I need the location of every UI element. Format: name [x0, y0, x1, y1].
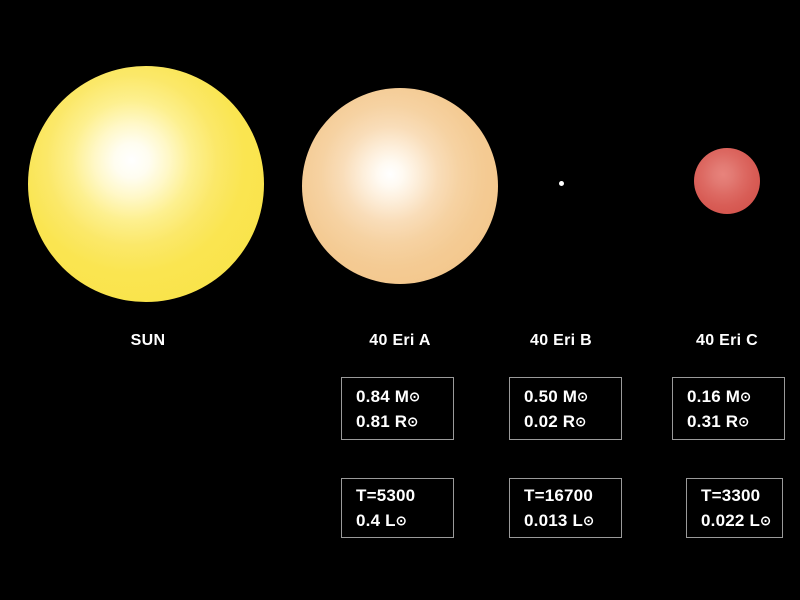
- radius-number-40-eri-c: 0.31 R: [687, 412, 738, 431]
- star-name-40-eri-b: 40 Eri B: [491, 332, 631, 350]
- star-disk-sun: [28, 66, 264, 302]
- mass-radius-box-40-eri-c: 0.16 M⊙ 0.31 R⊙: [672, 377, 785, 440]
- radius-number-40-eri-a: 0.81 R: [356, 412, 407, 431]
- mass-radius-box-40-eri-b: 0.50 M⊙ 0.02 R⊙: [509, 377, 622, 440]
- temperature-value-40-eri-c: T=3300: [701, 483, 782, 508]
- radius-value-40-eri-b: 0.02 R⊙: [524, 409, 621, 434]
- star-name-40-eri-c: 40 Eri C: [657, 332, 797, 350]
- mass-number-40-eri-b: 0.50 M: [524, 387, 577, 406]
- star-disk-40-eri-c: [694, 148, 760, 214]
- sun-symbol-icon: ⊙: [575, 414, 586, 429]
- star-disk-40-eri-a: [302, 88, 498, 284]
- sun-symbol-icon: ⊙: [396, 513, 407, 528]
- sun-symbol-icon: ⊙: [583, 513, 594, 528]
- luminosity-number-40-eri-b: 0.013 L: [524, 511, 583, 530]
- luminosity-value-40-eri-a: 0.4 L⊙: [356, 508, 453, 533]
- mass-number-40-eri-c: 0.16 M: [687, 387, 740, 406]
- temperature-value-40-eri-a: T=5300: [356, 483, 453, 508]
- sun-symbol-icon: ⊙: [760, 513, 771, 528]
- star-comparison-figure: SUN 40 Eri A 40 Eri B 40 Eri C 0.84 M⊙ 0…: [0, 0, 800, 600]
- mass-number-40-eri-a: 0.84 M: [356, 387, 409, 406]
- luminosity-value-40-eri-c: 0.022 L⊙: [701, 508, 782, 533]
- temperature-luminosity-box-40-eri-a: T=5300 0.4 L⊙: [341, 478, 454, 538]
- sun-symbol-icon: ⊙: [409, 389, 420, 404]
- luminosity-value-40-eri-b: 0.013 L⊙: [524, 508, 621, 533]
- mass-value-40-eri-b: 0.50 M⊙: [524, 384, 621, 409]
- mass-value-40-eri-a: 0.84 M⊙: [356, 384, 453, 409]
- sun-symbol-icon: ⊙: [407, 414, 418, 429]
- temperature-value-40-eri-b: T=16700: [524, 483, 621, 508]
- star-disk-40-eri-b: [559, 181, 564, 186]
- temperature-luminosity-box-40-eri-b: T=16700 0.013 L⊙: [509, 478, 622, 538]
- radius-number-40-eri-b: 0.02 R: [524, 412, 575, 431]
- star-name-sun: SUN: [78, 332, 218, 350]
- sun-symbol-icon: ⊙: [740, 389, 751, 404]
- star-name-40-eri-a: 40 Eri A: [330, 332, 470, 350]
- sun-symbol-icon: ⊙: [577, 389, 588, 404]
- temperature-luminosity-box-40-eri-c: T=3300 0.022 L⊙: [686, 478, 783, 538]
- luminosity-number-40-eri-a: 0.4 L: [356, 511, 396, 530]
- radius-value-40-eri-a: 0.81 R⊙: [356, 409, 453, 434]
- mass-radius-box-40-eri-a: 0.84 M⊙ 0.81 R⊙: [341, 377, 454, 440]
- sun-symbol-icon: ⊙: [738, 414, 749, 429]
- radius-value-40-eri-c: 0.31 R⊙: [687, 409, 784, 434]
- luminosity-number-40-eri-c: 0.022 L: [701, 511, 760, 530]
- mass-value-40-eri-c: 0.16 M⊙: [687, 384, 784, 409]
